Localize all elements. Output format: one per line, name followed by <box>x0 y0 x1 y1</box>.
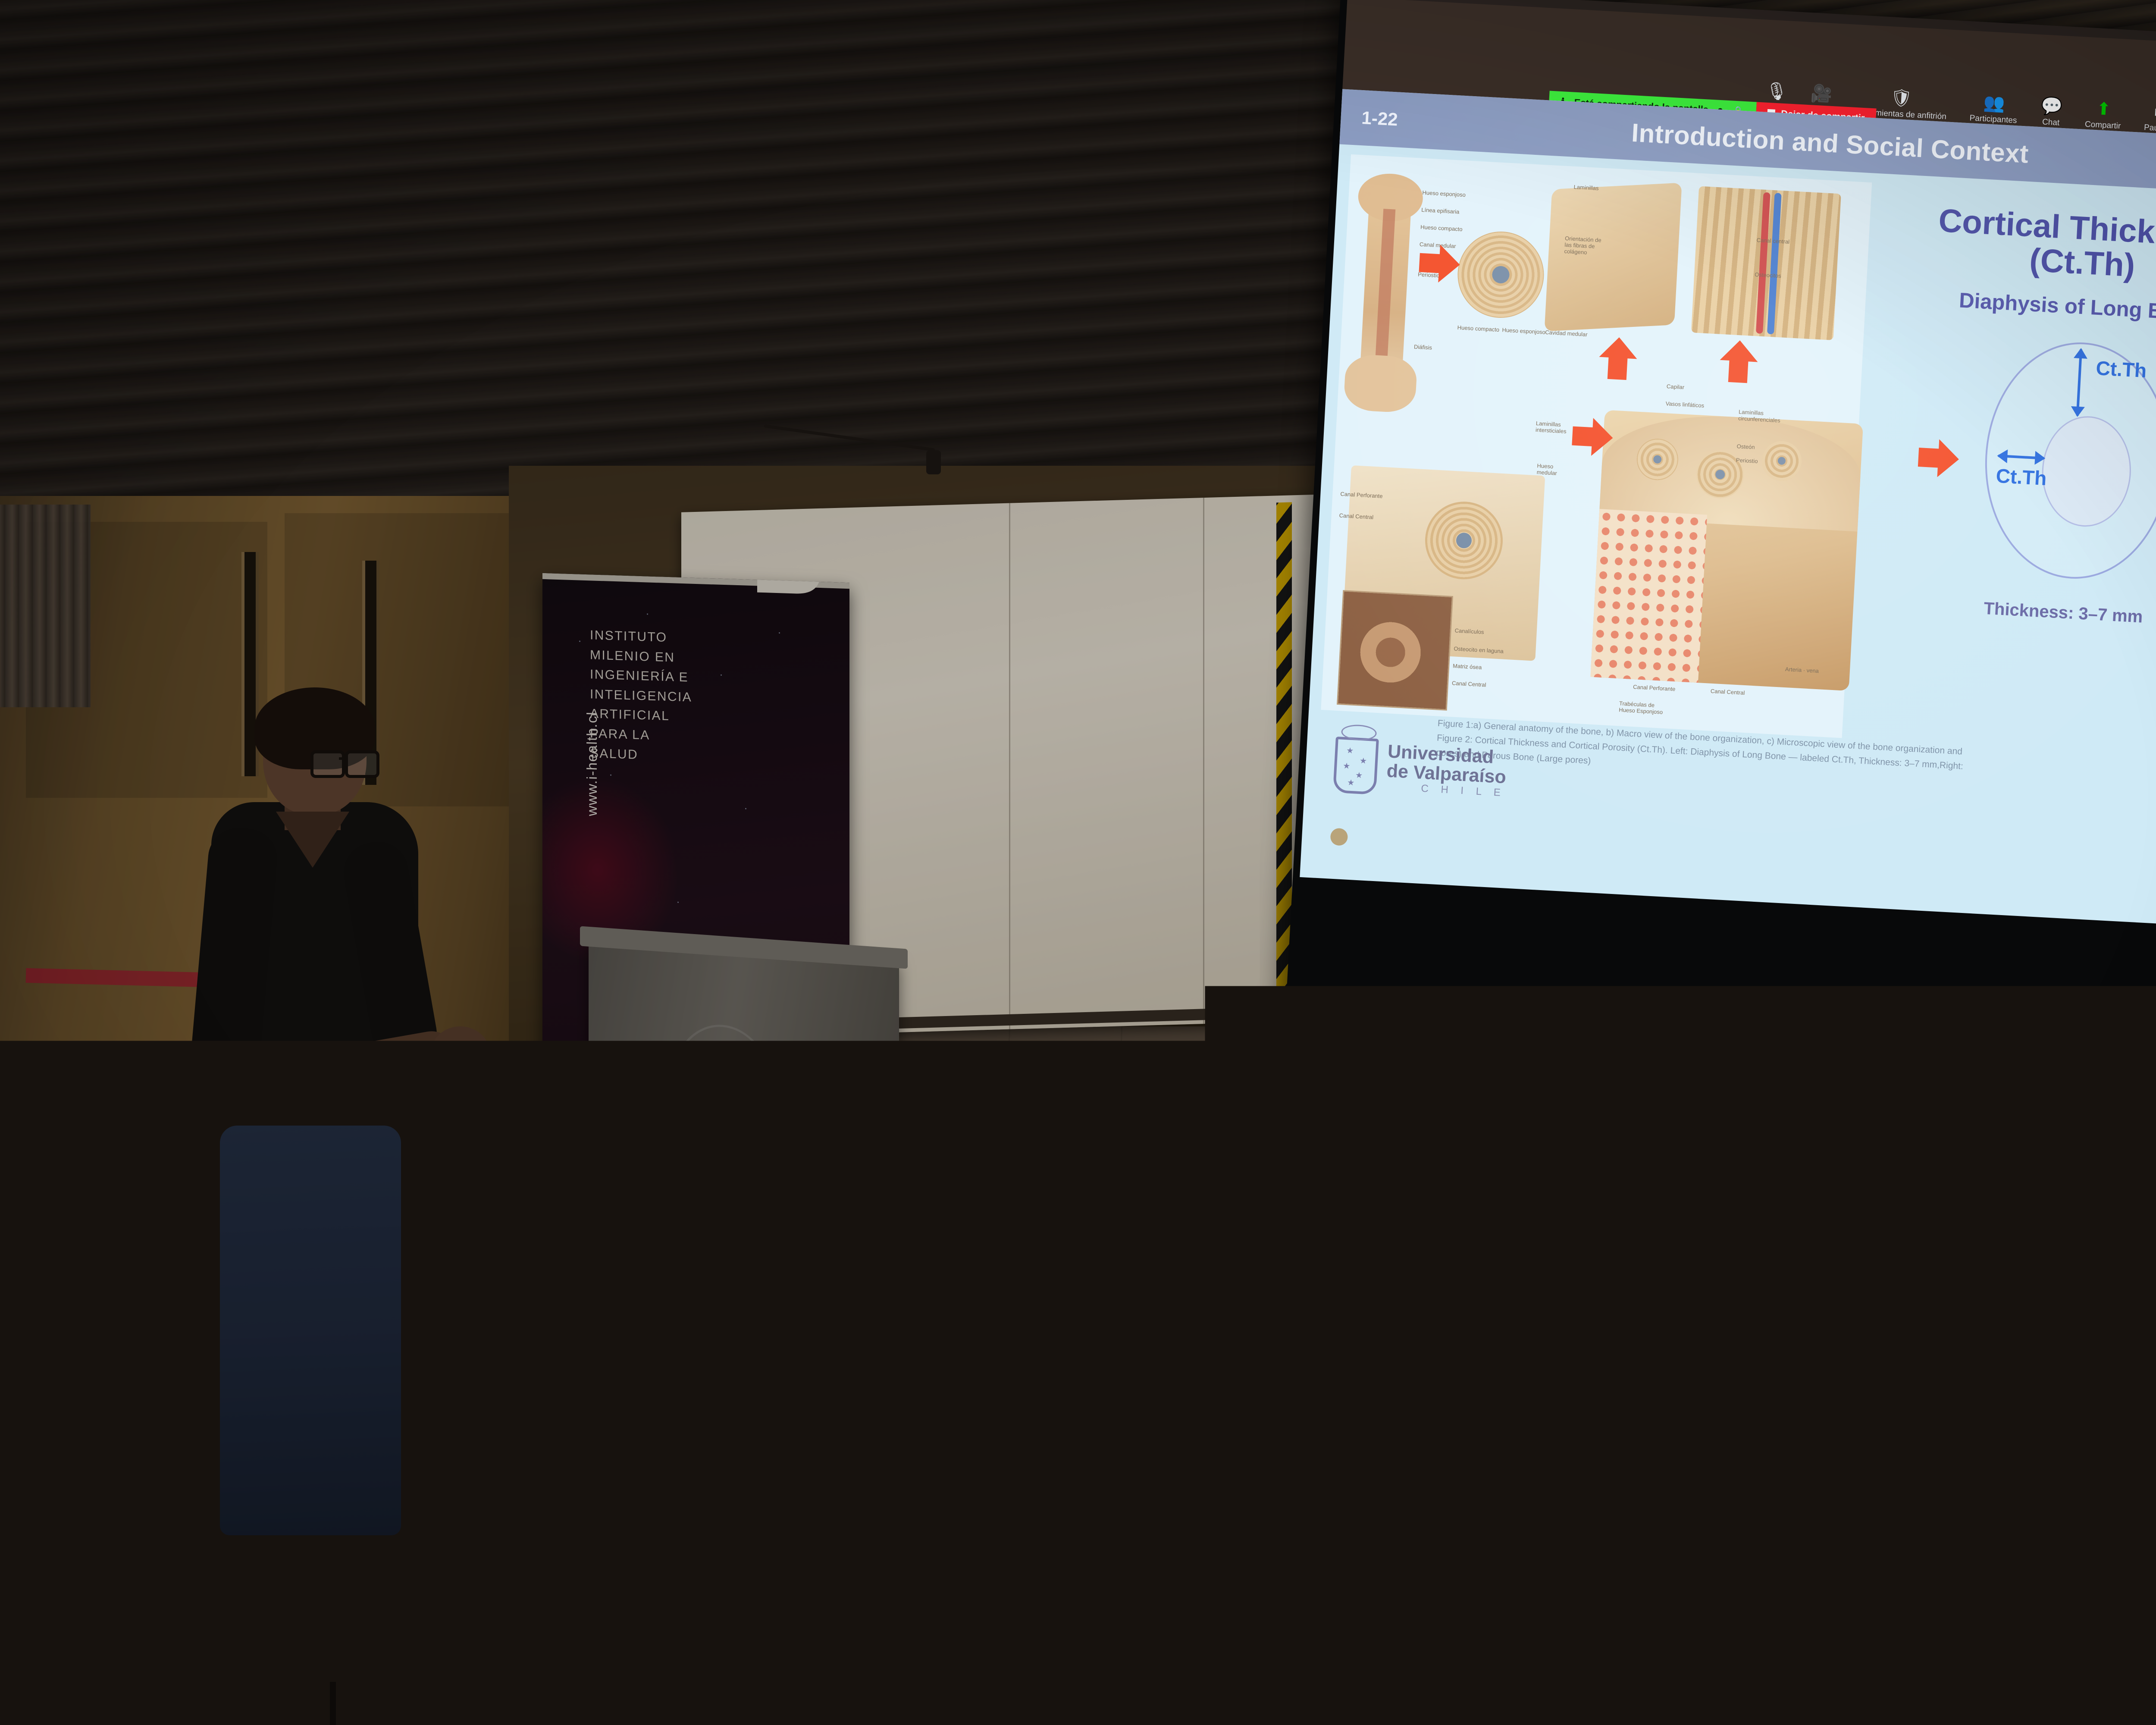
histology-inset <box>1337 590 1453 710</box>
eye-icon <box>1341 724 1377 741</box>
chat-icon: 💬 <box>2040 97 2063 116</box>
presenter-shoe-left <box>203 1514 310 1555</box>
glasses-bridge <box>339 757 346 760</box>
laptop-power-led-icon <box>979 1206 983 1209</box>
mic-head <box>926 450 941 474</box>
slide-corner-badge <box>1330 828 1348 846</box>
ct-cross-section-diagram: Ct.Th Ct.Th <box>1864 323 2156 611</box>
presenter-glasses <box>310 750 375 773</box>
usb-hub[interactable] <box>1095 1205 1142 1234</box>
zoom-chat-button[interactable]: 💬 Chat <box>2040 97 2063 128</box>
macro-bone-block-b <box>1691 186 1841 340</box>
projection-screen: 🎙 Audio 🎥 Video 🛡 Herramientas de anfitr… <box>1278 0 2156 1202</box>
microphone-icon: 🎙 <box>1765 82 1788 101</box>
desk-divider <box>1880 1202 1883 1725</box>
zoom-pause-button[interactable]: ⏸ Pausar <box>2144 103 2156 134</box>
shield-icon: 🛡 <box>1890 89 1913 107</box>
presenter <box>185 699 522 1673</box>
laptop-led-icon <box>877 1097 881 1101</box>
participants-icon: 👥 <box>1983 94 2006 113</box>
presenter-shoe-right <box>302 1479 410 1521</box>
zoom-participants-button[interactable]: 👥 Participantes <box>1969 93 2018 125</box>
banner-url: www.i-health.cl <box>584 711 600 816</box>
long-bone-diagram <box>1359 182 1413 400</box>
lecture-hall-scene: INSTITUTO MILENIO EN INGENIERÍA E INTELI… <box>0 0 2156 1725</box>
cortical-thickness-figure: Cortical Thickness (Ct.Th) Diaphysis of … <box>1855 183 2156 760</box>
macro-bone-block-a <box>1545 183 1682 332</box>
screen-frame: 🎙 Audio 🎥 Video 🛡 Herramientas de anfitr… <box>1282 0 2156 1142</box>
powerpoint-slide: 1-22 Introduction and Social Context Hue… <box>1300 89 2156 929</box>
ct-subheading: Diaphysis of Long Bone <box>1879 284 2156 329</box>
zoom-share-button[interactable]: ⬆ Compartir <box>2084 100 2122 131</box>
glasses-lens-left <box>310 750 345 778</box>
boom-microphone <box>763 431 944 505</box>
slide-number: 1-22 <box>1361 107 1398 130</box>
jeans-seam <box>330 1682 336 1725</box>
spongy-bone-region <box>1590 509 1707 683</box>
laptop[interactable] <box>871 1091 1078 1220</box>
share-screen-icon: ⬆ <box>2096 100 2112 118</box>
ceiling-corrugated-panels <box>0 0 1406 509</box>
banner-institute-text: INSTITUTO MILENIO EN INGENIERÍA E INTELI… <box>590 625 701 766</box>
whiteboard-seam <box>1009 503 1010 1029</box>
presenter-jeans <box>220 1126 401 1535</box>
valparaiso-shield-icon: ★★ ★★ ★ <box>1333 737 1379 795</box>
pause-icon: ⏸ <box>2153 103 2156 121</box>
ct-horizontal-label: Ct.Th <box>1996 464 2047 489</box>
camera-icon: 🎥 <box>1810 85 1833 103</box>
zoom-chat-label: Chat <box>2042 117 2060 128</box>
marrow-cavity <box>1374 209 1396 382</box>
university-logo: ★★ ★★ ★ Universidad de Valparaíso C H I … <box>1333 737 1508 802</box>
usb-hub-led-icon <box>1101 1215 1131 1221</box>
bone-cross-section <box>1455 229 1546 320</box>
whiteboard-seam <box>1203 498 1204 1024</box>
bone-anatomy-figure: Hueso esponjoso Línea epifisaria Hueso c… <box>1321 154 1872 738</box>
ct-vertical-label: Ct.Th <box>2095 356 2147 382</box>
central-canal <box>1492 266 1510 284</box>
ct-heading: Cortical Thickness (Ct.Th) <box>1881 201 2156 291</box>
wall-corrugated-block <box>0 505 91 707</box>
glasses-lens-right <box>345 750 379 778</box>
